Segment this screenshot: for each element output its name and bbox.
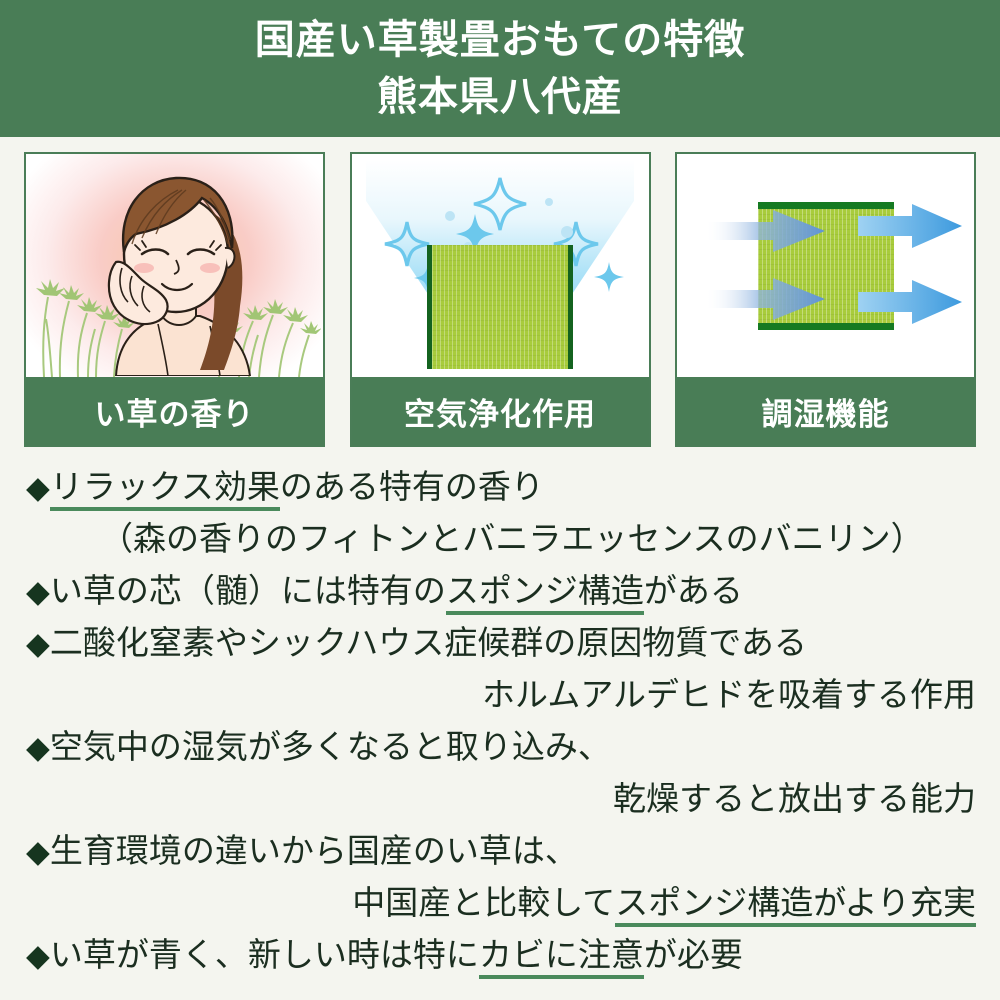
card-caption-humidity-control: 調湿機能	[677, 377, 974, 445]
description-line: ◆二酸化窒素やシックハウス症候群の原因物質である	[0, 618, 1000, 670]
diamond-bullet-icon: ◆	[26, 730, 50, 766]
description-line: ◆空気中の湿気が多くなると取り込み、	[0, 722, 1000, 774]
card-caption-aroma: い草の香り	[26, 377, 323, 445]
woman-face-icon	[70, 156, 280, 377]
diamond-bullet-icon: ◆	[26, 834, 50, 870]
diamond-bullet-icon: ◆	[26, 574, 50, 610]
diamond-bullet-icon: ◆	[26, 626, 50, 662]
highlighted-term: スポンジ構造	[446, 574, 644, 615]
arrow-right-icon	[705, 278, 825, 320]
tatami-with-airflow-arrows-illustration	[677, 154, 974, 377]
page-title-line-1: 国産い草製畳おもての特徴	[255, 12, 745, 69]
description-line: 中国産と比較してスポンジ構造がより充実	[0, 878, 1000, 930]
description-text: が必要	[644, 938, 743, 974]
highlighted-term: カビに注意	[479, 938, 644, 979]
feature-card-air-purification: 空気浄化作用	[350, 152, 651, 447]
feature-card-humidity-control: 調湿機能	[675, 152, 976, 447]
description-line: ◆い草の芯（髄）には特有のスポンジ構造がある	[0, 566, 1000, 618]
description-text: がある	[644, 574, 743, 610]
description-line: （森の香りのフィトンとバニラエッセンスのバニリン）	[0, 514, 1000, 566]
description-text: ホルムアルデヒドを吸着する作用	[482, 678, 976, 714]
feature-card-aroma: い草の香り	[24, 152, 325, 447]
arrow-right-icon	[858, 280, 962, 324]
description-line: ◆生育環境の違いから国産のい草は、	[0, 826, 1000, 878]
description-text: 中国産と比較して	[352, 886, 615, 922]
description-text: （森の香りのフィトンとバニラエッセンスのバニリン）	[100, 522, 924, 558]
relaxed-woman-with-rush-grass-illustration	[26, 154, 323, 377]
feature-description-list: ◆リラックス効果のある特有の香り（森の香りのフィトンとバニラエッセンスのバニリン…	[0, 462, 1000, 982]
description-text: 二酸化窒素やシックハウス症候群の原因物質である	[50, 626, 807, 662]
tatami-mat-icon	[427, 245, 573, 369]
diamond-bullet-icon: ◆	[26, 938, 50, 974]
tatami-emitting-sparkles-illustration	[352, 154, 649, 377]
description-line: ホルムアルデヒドを吸着する作用	[0, 670, 1000, 722]
feature-card-row: い草の香り	[24, 152, 976, 447]
diamond-bullet-icon: ◆	[26, 470, 50, 506]
page-header: 国産い草製畳おもての特徴 熊本県八代産	[0, 0, 1000, 137]
arrow-right-icon	[705, 210, 825, 252]
highlighted-term: スポンジ構造がより充実	[615, 886, 976, 927]
description-text: 乾燥すると放出する能力	[613, 782, 976, 818]
infographic-page: 国産い草製畳おもての特徴 熊本県八代産	[0, 0, 1000, 1000]
description-text: のある特有の香り	[280, 470, 544, 506]
description-text: い草の芯（髄）には特有の	[50, 574, 446, 610]
highlighted-term: リラックス効果	[50, 470, 280, 511]
description-text: 空気中の湿気が多くなると取り込み、	[50, 730, 611, 766]
card-caption-air-purification: 空気浄化作用	[352, 377, 649, 445]
arrow-right-icon	[858, 204, 962, 248]
description-text: 生育環境の違いから国産のい草は、	[50, 834, 578, 870]
description-line: ◆い草が青く、新しい時は特にカビに注意が必要	[0, 930, 1000, 982]
description-line: ◆リラックス効果のある特有の香り	[0, 462, 1000, 514]
description-text: い草が青く、新しい時は特に	[50, 938, 479, 974]
description-line: 乾燥すると放出する能力	[0, 774, 1000, 826]
page-title-line-2: 熊本県八代産	[377, 69, 623, 126]
